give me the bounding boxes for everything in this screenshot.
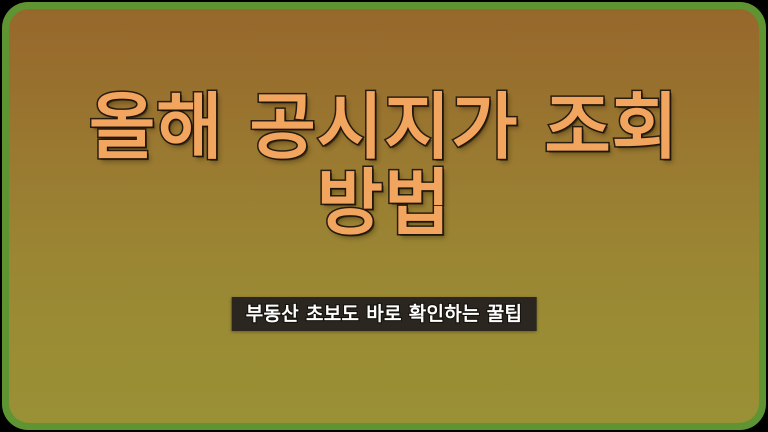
title-block: 올해 공시지가 조회 방법 (9, 91, 759, 239)
title-line-2: 방법 (9, 167, 759, 239)
card-green-border-frame: 올해 공시지가 조회 방법 부동산 초보도 바로 확인하는 꿀팁 (2, 2, 766, 430)
title-line-1: 올해 공시지가 조회 (9, 91, 759, 163)
subtitle-banner: 부동산 초보도 바로 확인하는 꿀팁 (232, 297, 537, 331)
thumbnail-canvas: 올해 공시지가 조회 방법 부동산 초보도 바로 확인하는 꿀팁 (0, 0, 768, 432)
card-gradient-surface: 올해 공시지가 조회 방법 부동산 초보도 바로 확인하는 꿀팁 (9, 9, 759, 423)
subtitle-text: 부동산 초보도 바로 확인하는 꿀팁 (246, 303, 523, 325)
